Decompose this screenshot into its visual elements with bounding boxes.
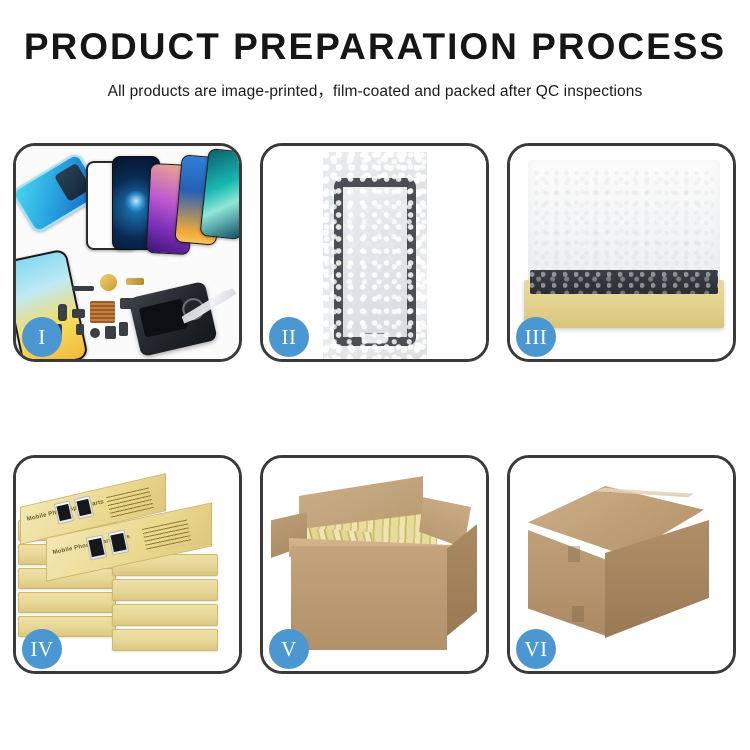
step-badge-4: IV bbox=[22, 629, 62, 669]
process-panel-grid: I II III bbox=[13, 143, 737, 674]
stacked-box-edge bbox=[18, 592, 116, 613]
small-part-b-icon bbox=[72, 309, 85, 318]
foam-sheet-icon bbox=[528, 160, 720, 284]
stacked-box-edge bbox=[112, 629, 218, 651]
page-title: PRODUCT PREPARATION PROCESS bbox=[0, 28, 750, 67]
wrapped-phone-screen-icon bbox=[334, 178, 416, 346]
yellow-box-tray-icon bbox=[524, 280, 724, 328]
phone-chassis-icon bbox=[128, 281, 217, 357]
step-badge-1: I bbox=[22, 317, 62, 357]
bubble-wrap-sheet-icon bbox=[323, 152, 427, 359]
panel-step-3: III bbox=[507, 143, 736, 362]
speaker-component-icon bbox=[100, 274, 117, 291]
packed-screen-icon bbox=[530, 270, 718, 294]
step-badge-5: V bbox=[269, 629, 309, 669]
stacked-box-edge bbox=[112, 604, 218, 626]
sealed-carton-left-face-icon bbox=[528, 530, 606, 636]
carton-handle-nick-top bbox=[568, 546, 580, 562]
panel-step-4: Mobile Phone Spare Parts Mobile Phone Sp… bbox=[13, 455, 242, 674]
panel-step-6: VI bbox=[507, 455, 736, 674]
panel-step-2: II bbox=[260, 143, 489, 362]
carton-handle-nick-bottom bbox=[572, 606, 584, 622]
small-part-e-icon bbox=[105, 326, 116, 339]
page-header: PRODUCT PREPARATION PROCESS All products… bbox=[0, 0, 750, 101]
step-badge-6: VI bbox=[516, 629, 556, 669]
carton-body-icon bbox=[291, 546, 447, 650]
step-badge-3: III bbox=[516, 317, 556, 357]
small-part-d-icon bbox=[90, 328, 100, 338]
page-subtitle: All products are image-printed，film-coat… bbox=[0, 79, 750, 101]
small-part-a-icon bbox=[58, 304, 67, 321]
flex-cable-icon bbox=[126, 278, 144, 285]
panel-step-5: V bbox=[260, 455, 489, 674]
stacked-box-edge bbox=[112, 579, 218, 601]
small-part-f-icon bbox=[119, 322, 128, 336]
small-part-bar-icon bbox=[72, 286, 94, 291]
step-badge-2: II bbox=[269, 317, 309, 357]
panel-step-1: I bbox=[13, 143, 242, 362]
small-part-c-icon bbox=[76, 324, 84, 335]
copper-grid-component-icon bbox=[90, 301, 115, 323]
